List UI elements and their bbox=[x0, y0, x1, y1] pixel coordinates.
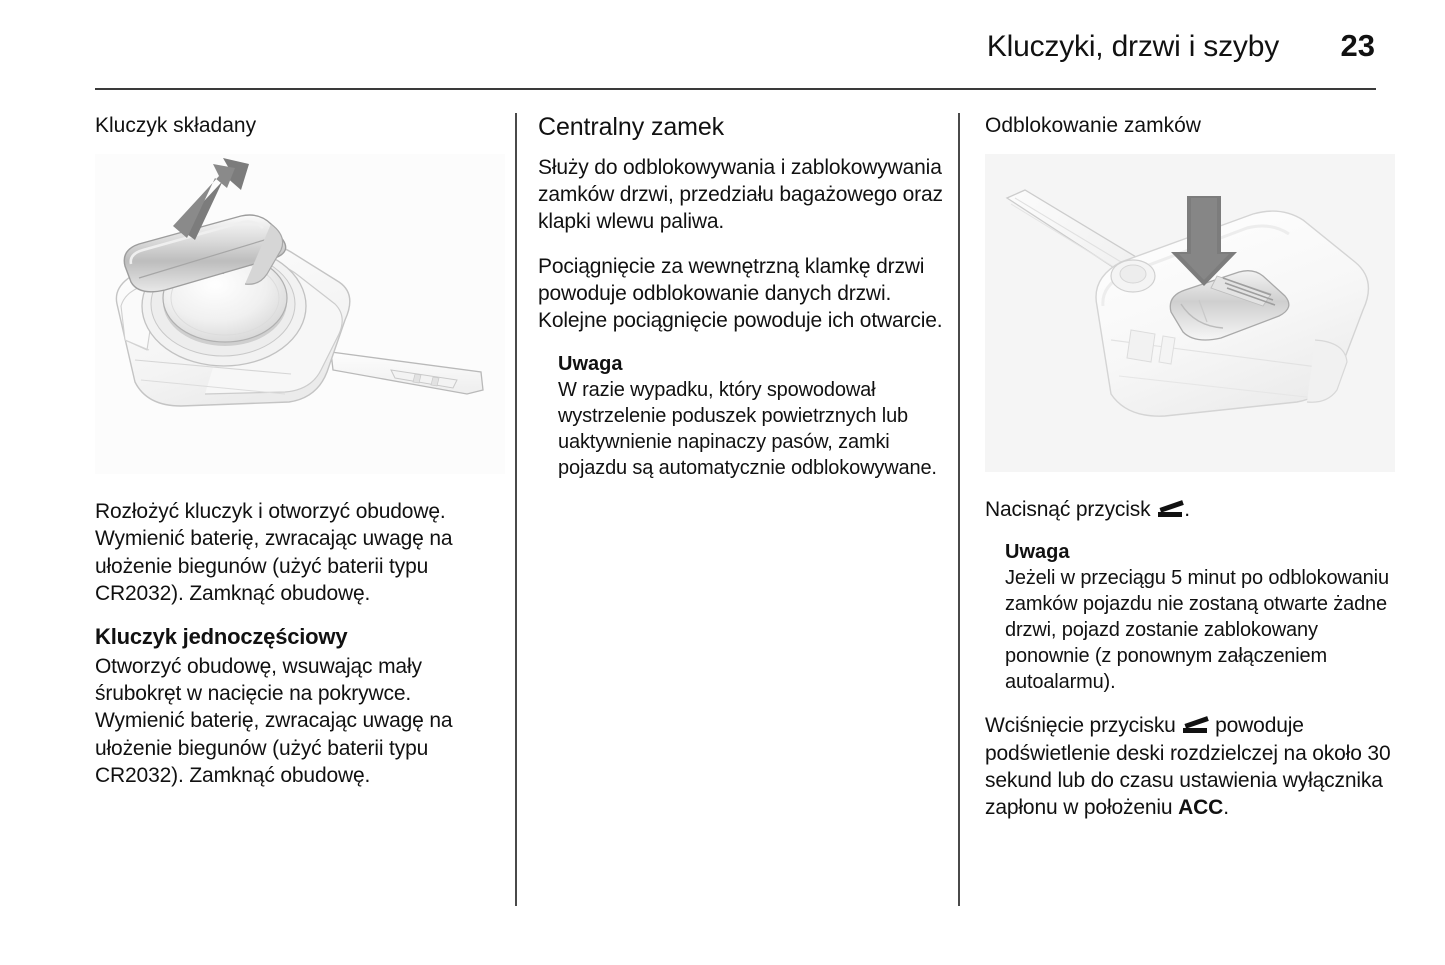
col3-acc-label: ACC bbox=[1178, 796, 1223, 819]
col3-paragraph-1-after: . bbox=[1184, 498, 1190, 521]
content-columns: Kluczyk składany bbox=[0, 113, 1445, 913]
col3-note-body: Jeżeli w przeciągu 5 minut po odblokowan… bbox=[1005, 565, 1395, 695]
col3-paragraph-2-after: . bbox=[1223, 796, 1229, 819]
col2-note: Uwaga W razie wypadku, który spowodował … bbox=[538, 352, 948, 481]
figure-key-fob-button bbox=[985, 154, 1395, 472]
col1-paragraph-1: Rozłożyć kluczyk i otworzyć obudowę. Wym… bbox=[95, 498, 505, 607]
column-divider-1 bbox=[515, 113, 517, 906]
header-rule bbox=[95, 88, 1376, 90]
col2-note-body: W razie wypadku, który spowodował wystrz… bbox=[558, 377, 948, 481]
col3-paragraph-2: Wciśnięcie przycisku powoduje podświetle… bbox=[985, 712, 1395, 821]
manual-page: Kluczyki, drzwi i szyby 23 Kluczyk skład… bbox=[0, 0, 1445, 965]
col3-note-title: Uwaga bbox=[1005, 540, 1395, 565]
col2-paragraph-1: Służy do odblokowywania i zablokowywania… bbox=[538, 154, 948, 236]
column-2: Centralny zamek Służy do odblokowywania … bbox=[538, 113, 948, 498]
key-blade bbox=[331, 352, 483, 394]
col1-heading: Kluczyk składany bbox=[95, 113, 505, 138]
column-3: Odblokowanie zamków bbox=[985, 113, 1395, 822]
figure-folding-key bbox=[95, 154, 505, 474]
col3-heading: Odblokowanie zamków bbox=[985, 113, 1395, 138]
column-1: Kluczyk składany bbox=[95, 113, 505, 789]
column-divider-2 bbox=[958, 113, 960, 906]
col3-paragraph-2-before: Wciśnięcie przycisku bbox=[985, 714, 1181, 737]
col2-note-title: Uwaga bbox=[558, 352, 948, 377]
col2-paragraph-2: Pociągnięcie za wewnętrzną klamkę drzwi … bbox=[538, 253, 948, 335]
col1-paragraph-2: Otworzyć obudowę, wsuwając mały śrubokrę… bbox=[95, 653, 505, 789]
col1-subheading: Kluczyk jednoczęściowy bbox=[95, 624, 505, 650]
page-title: Kluczyki, drzwi i szyby bbox=[987, 30, 1279, 64]
unlock-icon bbox=[1157, 499, 1183, 518]
col3-note: Uwaga Jeżeli w przeciągu 5 minut po odbl… bbox=[985, 540, 1395, 695]
col3-paragraph-1-before: Nacisnąć przycisk bbox=[985, 498, 1156, 521]
page-header: Kluczyki, drzwi i szyby 23 bbox=[95, 28, 1375, 74]
col3-paragraph-1: Nacisnąć przycisk . bbox=[985, 496, 1395, 523]
unlock-icon bbox=[1182, 715, 1208, 734]
col2-heading: Centralny zamek bbox=[538, 113, 948, 142]
page-number: 23 bbox=[1331, 28, 1375, 64]
